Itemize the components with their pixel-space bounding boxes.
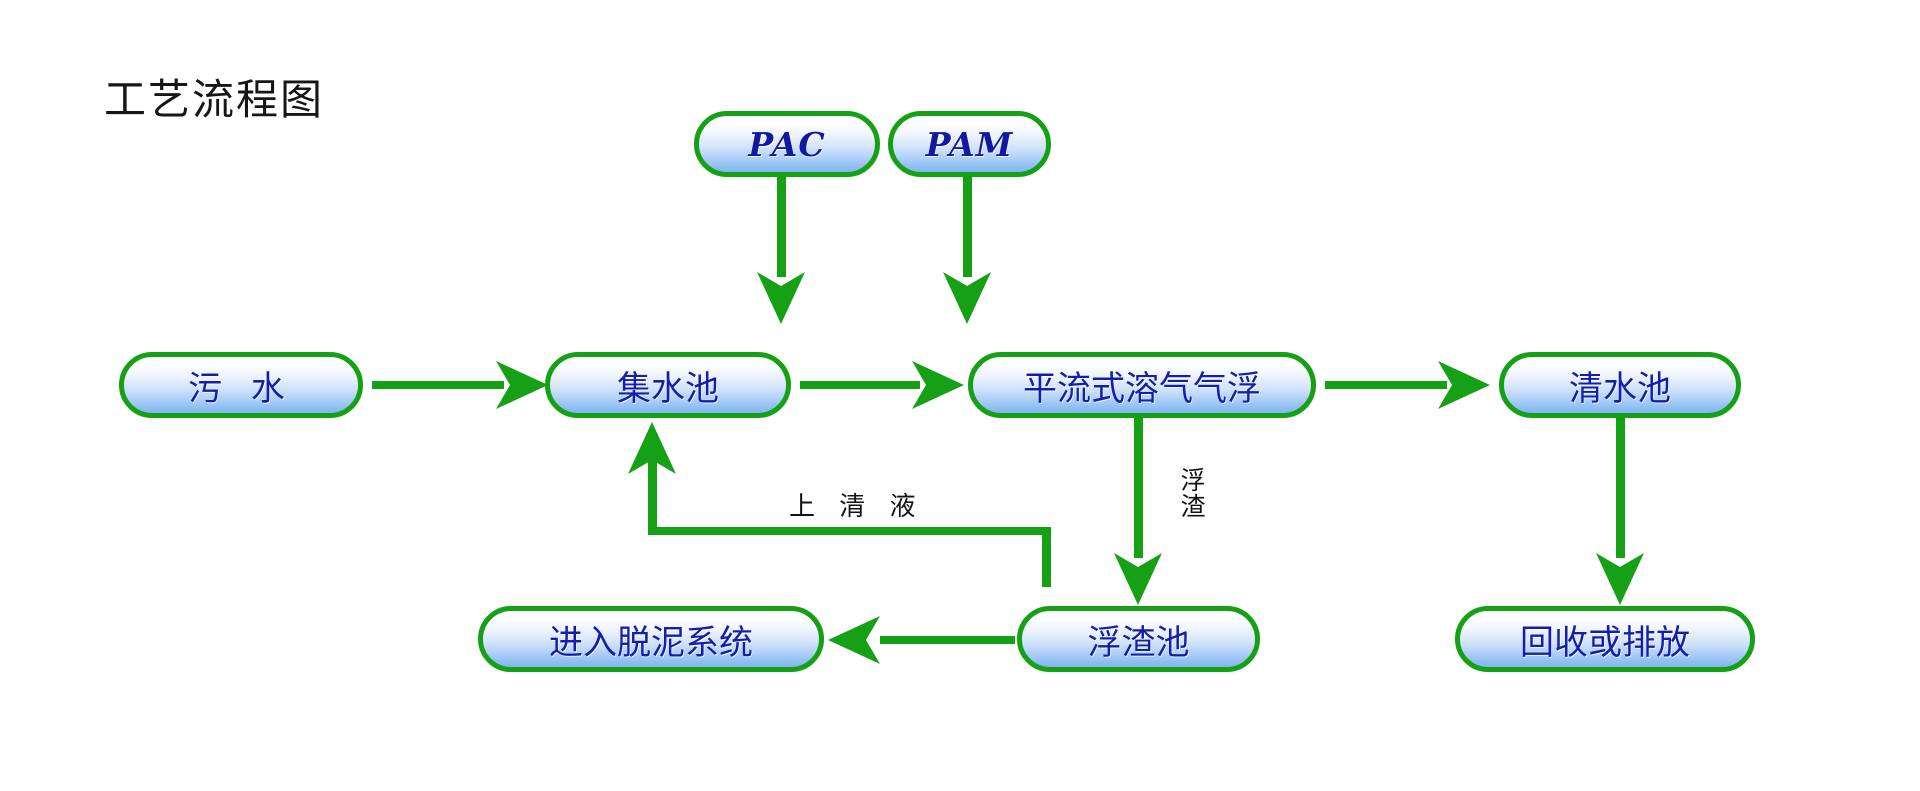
node-scum-tank-label: 浮渣池 — [1088, 615, 1190, 664]
node-dissolved-air-flotation[interactable]: 平流式溶气气浮 — [968, 352, 1316, 418]
node-sewage-label: 污 水 — [188, 361, 294, 410]
connector-supernatant-horizontal — [648, 527, 1051, 535]
node-collection-tank[interactable]: 集水池 — [545, 352, 791, 418]
connector-scum-to-sludge — [880, 636, 1015, 644]
node-pam[interactable]: PAM — [888, 111, 1051, 177]
node-sludge-dewatering-system-label: 进入脱泥系统 — [549, 615, 753, 664]
connector-collect-to-daf — [800, 381, 920, 389]
node-recycle-or-discharge[interactable]: 回收或排放 — [1455, 606, 1755, 672]
node-pac[interactable]: PAC — [694, 111, 880, 177]
process-flow-diagram: 工艺流程图 浮渣 — [0, 0, 1920, 791]
connector-daf-to-clear — [1325, 381, 1447, 389]
node-sludge-dewatering-system[interactable]: 进入脱泥系统 — [478, 606, 824, 672]
connector-sewage-to-collect — [372, 381, 504, 389]
node-clear-water-tank[interactable]: 清水池 — [1499, 352, 1741, 418]
connector-clear-to-out — [1616, 418, 1625, 558]
node-scum-tank[interactable]: 浮渣池 — [1017, 606, 1260, 672]
node-clear-water-tank-label: 清水池 — [1569, 361, 1671, 410]
page-title: 工艺流程图 — [104, 66, 324, 127]
connector-pac-to-collect — [777, 177, 786, 277]
edge-label-scum: 浮渣 — [1178, 468, 1208, 519]
edge-label-supernatant: 上 清 液 — [789, 486, 924, 523]
node-dissolved-air-flotation-label: 平流式溶气气浮 — [1023, 361, 1261, 410]
node-sewage[interactable]: 污 水 — [119, 352, 363, 418]
connector-supernatant-riser — [1042, 527, 1051, 587]
node-collection-tank-label: 集水池 — [617, 361, 719, 410]
node-pam-label: PAM — [926, 125, 1014, 164]
connector-daf-to-scum — [1134, 418, 1143, 558]
node-pac-label: PAC — [748, 125, 825, 164]
node-recycle-or-discharge-label: 回收或排放 — [1520, 615, 1690, 664]
connector-pam-to-daf — [963, 177, 972, 277]
